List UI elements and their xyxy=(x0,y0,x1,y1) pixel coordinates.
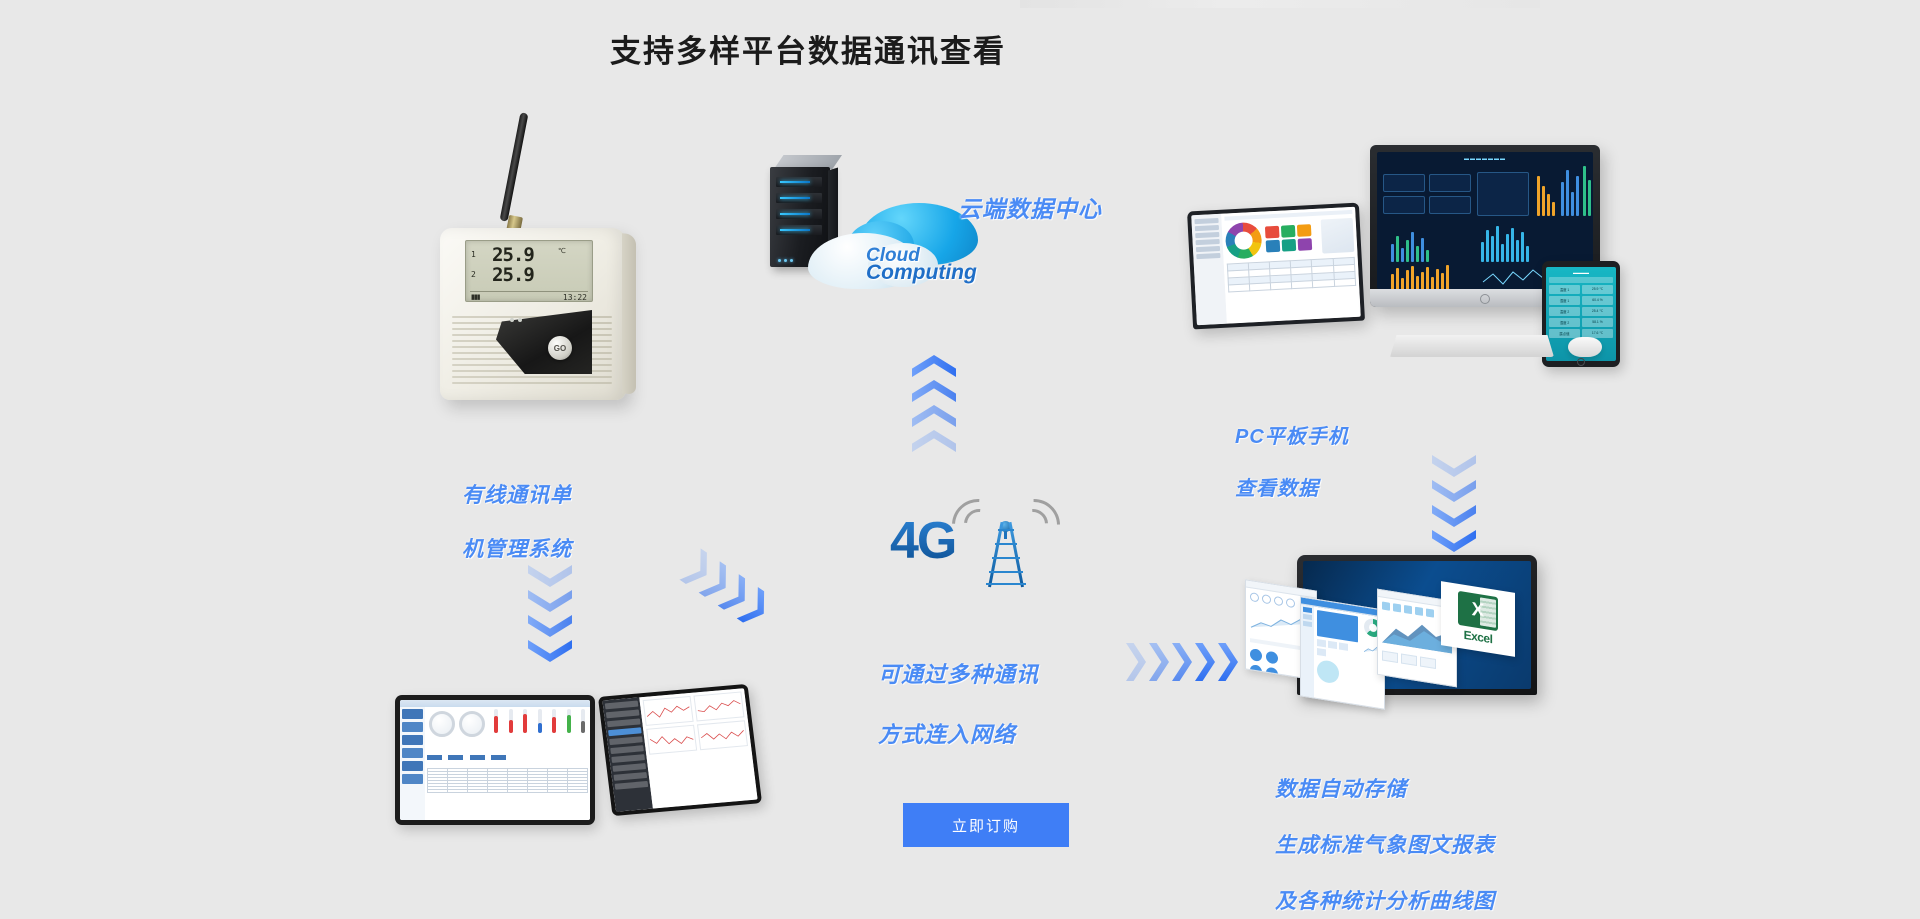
tablet-data-cell: 60.4 % xyxy=(1582,296,1613,305)
storage-caption-line1: 数据自动存储 xyxy=(1275,778,1407,801)
network-caption-line2: 方式连入网络 xyxy=(878,722,1016,747)
excel-icon: X xyxy=(1458,591,1498,631)
mouse[interactable] xyxy=(1568,337,1602,357)
sensor-lcd-screen: 1 25.9 ℃ 2 25.9 ▮▮▮ 13:22 xyxy=(465,240,593,302)
tablet-data-cell: 湿度 1 xyxy=(1549,296,1580,305)
lcd-channel2-id: 2 xyxy=(471,270,476,279)
tablet-data-row: 温度 225.4 ℃ xyxy=(1549,307,1613,316)
order-now-button-label: 立即订购 xyxy=(952,815,1020,836)
arrow-cloud-to-storage xyxy=(1432,455,1476,555)
data-storage-laptop-group: X Excel xyxy=(1245,555,1545,735)
network-4g-graphic: 4G xyxy=(890,485,1080,590)
sensor-caption: 有线通讯单 机管理系统 xyxy=(462,455,572,563)
monitor-workstation-group xyxy=(395,690,765,865)
tablet-data-cell: 25.4 ℃ xyxy=(1582,307,1613,316)
excel-export-card: X Excel xyxy=(1441,581,1515,657)
devices-caption-line2: 查看数据 xyxy=(1235,478,1319,500)
keyboard[interactable] xyxy=(1390,335,1554,357)
lcd-channel2-value: 25.9 xyxy=(492,264,534,286)
tablet-data-cell: 25.9 ℃ xyxy=(1582,285,1613,294)
wired-sensor-device: 1 25.9 ℃ 2 25.9 ▮▮▮ 13:22 GO xyxy=(440,160,630,410)
cloud-computing-logo: Cloud Computing xyxy=(866,247,1016,281)
network-caption: 可通过多种通讯 方式连入网络 xyxy=(878,630,1039,750)
lcd-time: 13:22 xyxy=(563,293,587,302)
monitor-secondary xyxy=(598,684,762,816)
infographic-canvas: 支持多样平台数据通讯查看 1 25.9 ℃ 2 25.9 ▮▮▮ 13:22 G… xyxy=(0,0,1920,919)
imac-dashboard-title: ▬▬▬▬▬▬▬ xyxy=(1464,156,1506,162)
tablet-data-row: 温度 125.9 ℃ xyxy=(1549,285,1613,294)
top-edge-strip xyxy=(1020,0,1540,8)
tablet-home-button[interactable] xyxy=(1577,358,1585,366)
page-title: 支持多样平台数据通讯查看 xyxy=(0,26,1920,71)
tablet-data-cell: 温度 1 xyxy=(1549,285,1580,294)
floating-report-panel-2 xyxy=(1300,596,1385,709)
excel-label: Excel xyxy=(1464,628,1493,647)
tablet-data-cell: 58.1 % xyxy=(1582,318,1613,327)
cloud-data-center-graphic: Cloud Computing xyxy=(760,155,990,290)
lcd-channel1-unit: ℃ xyxy=(558,247,566,255)
devices-caption: PC平板手机 查看数据 xyxy=(1235,398,1349,502)
network-4g-label: 4G xyxy=(890,511,955,571)
sensor-led-indicators xyxy=(510,318,522,322)
antenna-icon xyxy=(500,112,529,222)
laptop-dashboard xyxy=(1187,203,1365,330)
sensor-go-button-label: GO xyxy=(548,336,572,360)
cloud-caption: 云端数据中心 xyxy=(958,196,1102,223)
tablet-data-rows: 温度 125.9 ℃湿度 160.4 %温度 225.4 ℃湿度 258.1 %… xyxy=(1549,285,1613,338)
sensor-caption-line1: 有线通讯单 xyxy=(462,484,572,507)
laptop-screen xyxy=(1191,207,1361,325)
lcd-signal-icon: ▮▮▮ xyxy=(471,293,480,301)
tablet-data-cell: 温度 2 xyxy=(1549,307,1580,316)
lcd-channel1-id: 1 xyxy=(471,250,476,259)
monitor-primary-screen xyxy=(400,700,590,820)
order-now-button[interactable]: 立即订购 xyxy=(903,803,1069,847)
monitor-primary xyxy=(395,695,595,825)
arrow-sensor-to-network xyxy=(679,548,777,631)
lcd-channel1-value: 25.9 xyxy=(492,244,534,266)
lcd-divider xyxy=(470,291,588,292)
sensor-go-button[interactable]: GO xyxy=(548,336,572,360)
cloud-icon: Cloud Computing xyxy=(808,203,983,289)
sensor-body: 1 25.9 ℃ 2 25.9 ▮▮▮ 13:22 GO xyxy=(440,228,626,400)
devices-caption-line1: PC平板手机 xyxy=(1235,426,1349,448)
arrow-sensor-to-monitors xyxy=(528,565,572,665)
tablet-data-cell: 露点值 xyxy=(1549,329,1580,338)
storage-caption: 数据自动存储 生成标准气象图文报表 及各种统计分析曲线图 xyxy=(1275,748,1495,916)
power-icon[interactable] xyxy=(1480,294,1490,304)
storage-caption-line2: 生成标准气象图文报表 xyxy=(1275,834,1495,857)
cloud-logo-line2: Computing xyxy=(866,264,1016,281)
storage-caption-line3: 及各种统计分析曲线图 xyxy=(1275,890,1495,913)
arrow-network-to-cloud xyxy=(912,355,956,455)
sensor-caption-line2: 机管理系统 xyxy=(462,538,572,561)
tablet-data-cell: 湿度 2 xyxy=(1549,318,1580,327)
tablet-data-row: 湿度 258.1 % xyxy=(1549,318,1613,327)
network-caption-line1: 可通过多种通讯 xyxy=(878,662,1039,687)
multi-device-group: ▬▬▬▬▬▬▬ xyxy=(1190,145,1610,390)
laptop-main-panel xyxy=(1221,207,1361,324)
arrow-network-to-storage xyxy=(1126,643,1241,681)
page-title-text: 支持多样平台数据通讯查看 xyxy=(610,26,1006,71)
monitor-secondary-screen xyxy=(602,688,757,812)
tablet-data-row: 湿度 160.4 % xyxy=(1549,296,1613,305)
